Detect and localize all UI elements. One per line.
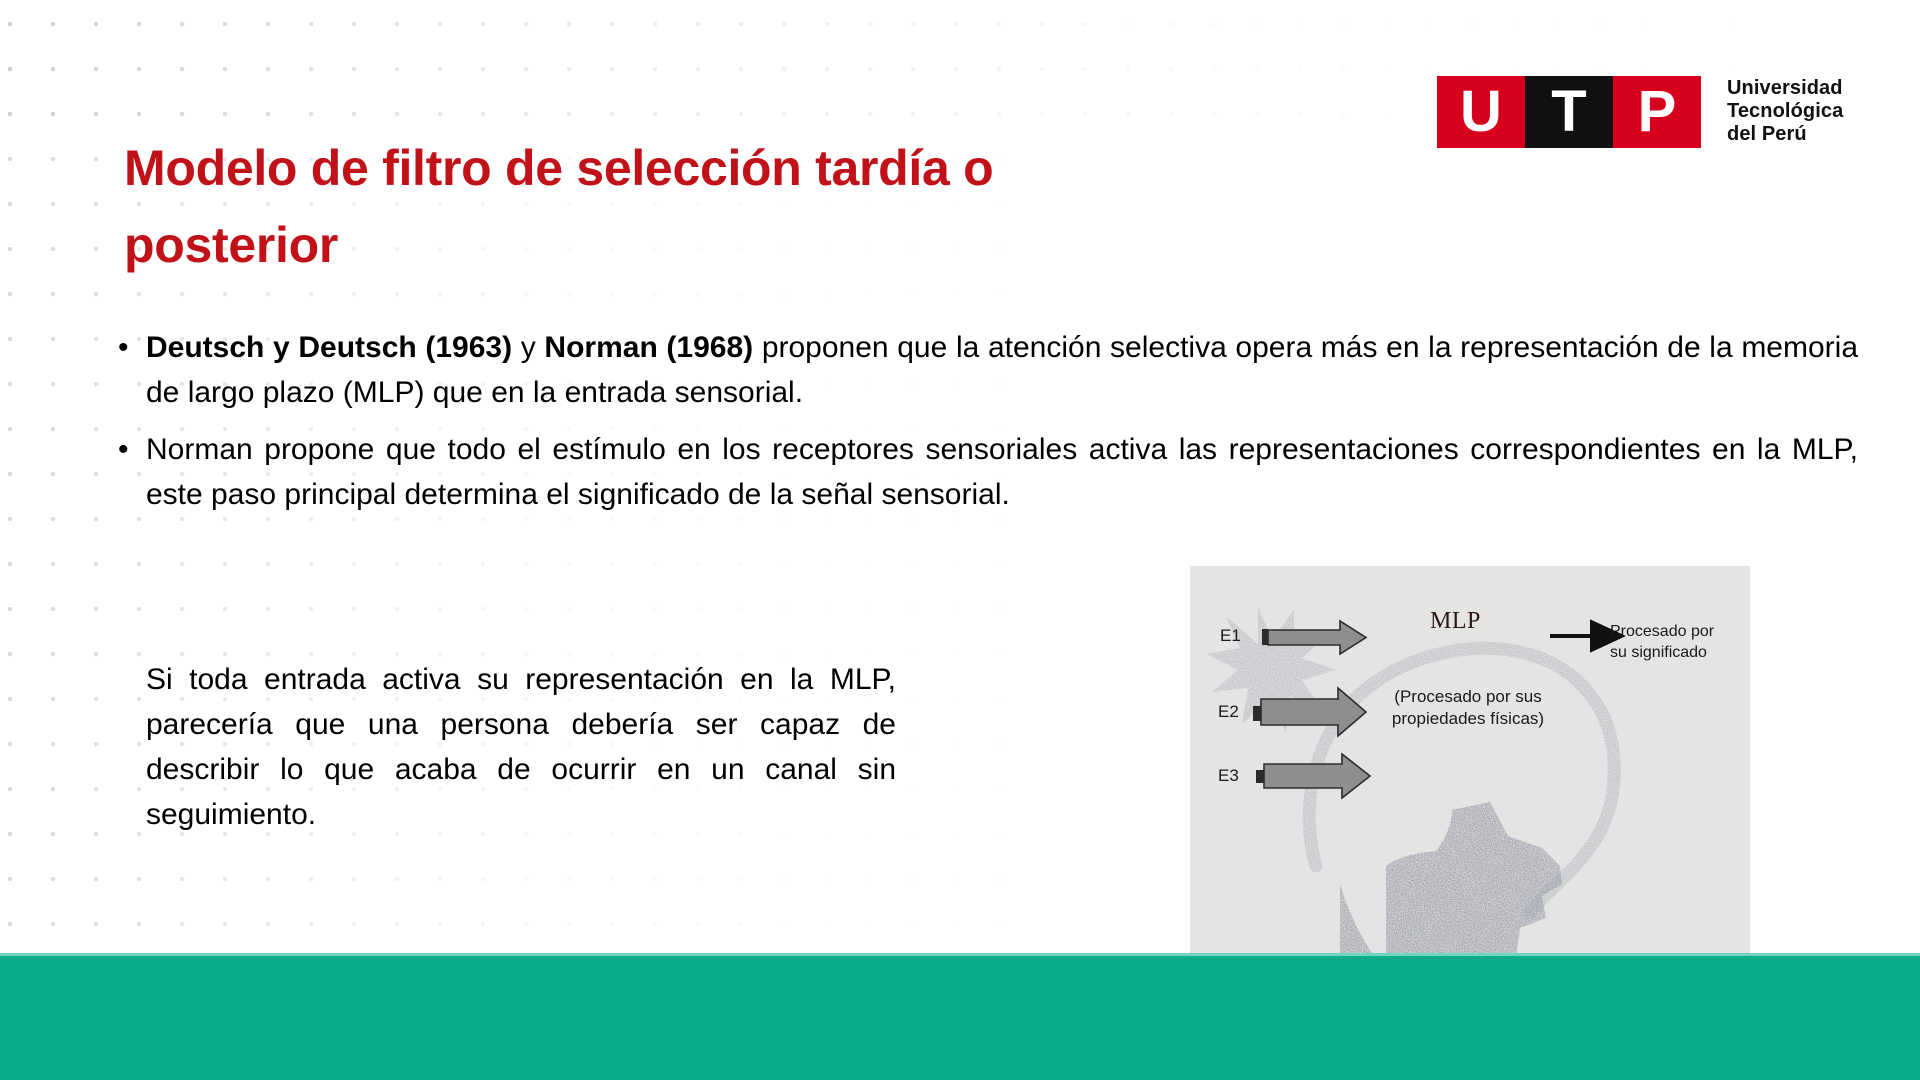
logo-name-line-3: del Perú — [1727, 123, 1843, 146]
figure-label-physical-properties: (Procesado por sus propiedades físicas) — [1368, 686, 1568, 730]
body-paragraph: Si toda entrada activa su representación… — [146, 657, 896, 837]
bullet-1-conjunction: y — [512, 331, 544, 364]
slide-body: • Deutsch y Deutsch (1963) y Norman (196… — [118, 325, 1858, 529]
figure-label-e3: E3 — [1218, 766, 1239, 786]
bullet-item-2-text: Norman propone que todo el estímulo en l… — [146, 427, 1858, 517]
presentation-slide: U T P Universidad Tecnológica del Perú M… — [0, 0, 1920, 1080]
utp-logo: U T P Universidad Tecnológica del Perú — [1437, 76, 1843, 148]
figure-label-output-line-1: Procesado por — [1610, 621, 1714, 642]
late-selection-model-figure: E1 E2 E3 MLP (Procesado por sus propieda… — [1190, 566, 1750, 976]
bullet-marker-icon: • — [118, 427, 146, 472]
logo-letter-u: U — [1437, 76, 1525, 148]
utp-logo-mark: U T P — [1437, 76, 1701, 148]
logo-letter-p: P — [1613, 76, 1701, 148]
figure-label-output: Procesado por su significado — [1610, 621, 1714, 663]
bullet-1-bold-authors-2: Norman (1968) — [544, 331, 753, 364]
bullet-item-2: • Norman propone que todo el estímulo en… — [118, 427, 1858, 517]
figure-label-output-line-2: su significado — [1610, 642, 1714, 663]
figure-label-mlp: MLP — [1430, 608, 1481, 635]
logo-name-line-2: Tecnológica — [1727, 100, 1843, 123]
figure-label-e2: E2 — [1218, 702, 1239, 722]
logo-letter-t: T — [1525, 76, 1613, 148]
figure-label-e1: E1 — [1220, 626, 1241, 646]
slide-title: Modelo de filtro de selección tardía o p… — [124, 130, 1304, 284]
slide-title-line-2: posterior — [124, 207, 1304, 284]
logo-name-line-1: Universidad — [1727, 77, 1843, 100]
slide-title-line-1: Modelo de filtro de selección tardía o — [124, 130, 1304, 207]
bullet-1-bold-authors-1: Deutsch y Deutsch (1963) — [146, 331, 512, 364]
bullet-item-1-text: Deutsch y Deutsch (1963) y Norman (1968)… — [146, 325, 1858, 415]
bullet-marker-icon: • — [118, 325, 146, 370]
bottom-accent-bar — [0, 956, 1920, 1080]
utp-logo-wordmark: Universidad Tecnológica del Perú — [1727, 77, 1843, 146]
bullet-item-1: • Deutsch y Deutsch (1963) y Norman (196… — [118, 325, 1858, 415]
